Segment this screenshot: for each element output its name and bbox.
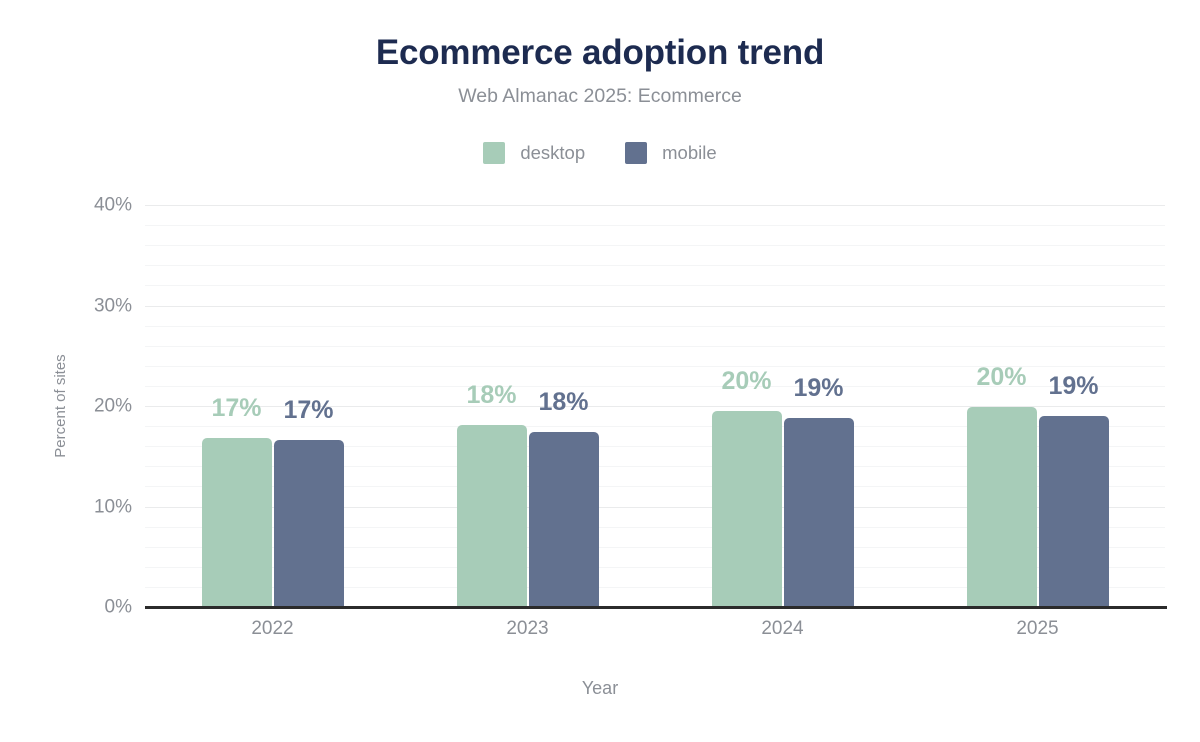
gridline-minor — [145, 225, 1165, 226]
bar-label-mobile-2024: 19% — [793, 376, 843, 401]
y-axis-tick-label: 0% — [12, 598, 132, 617]
gridline-minor — [145, 285, 1165, 286]
bar-label-desktop-2022: 17% — [211, 396, 261, 421]
bar-label-desktop-2023: 18% — [466, 383, 516, 408]
y-axis-tick-label: 10% — [12, 497, 132, 516]
gridline-major — [145, 306, 1165, 307]
bar-label-desktop-2025: 20% — [976, 365, 1026, 390]
bar-mobile-2025[interactable] — [1039, 416, 1109, 607]
bar-desktop-2024[interactable] — [712, 411, 782, 607]
gridline-minor — [145, 245, 1165, 246]
bar-desktop-2023[interactable] — [457, 425, 527, 607]
x-axis-title: Year — [0, 678, 1200, 699]
plot-wrapper: 0%10%20%30%40% Percent of sites 20222023… — [0, 0, 1200, 742]
gridline-minor — [145, 326, 1165, 327]
gridline-minor — [145, 346, 1165, 347]
x-axis-tick-label: 2023 — [506, 618, 548, 640]
y-axis-title: Percent of sites — [52, 354, 69, 457]
bar-desktop-2022[interactable] — [202, 438, 272, 607]
gridline-minor — [145, 265, 1165, 266]
x-axis-tick-label: 2024 — [761, 618, 803, 640]
bar-label-mobile-2023: 18% — [538, 390, 588, 415]
bar-label-mobile-2022: 17% — [283, 398, 333, 423]
x-axis-baseline — [145, 606, 1167, 609]
y-axis-tick-label: 20% — [12, 397, 132, 416]
bar-mobile-2023[interactable] — [529, 432, 599, 607]
x-axis-tick-label: 2025 — [1016, 618, 1058, 640]
bar-label-mobile-2025: 19% — [1048, 374, 1098, 399]
bar-mobile-2024[interactable] — [784, 418, 854, 607]
gridline-major — [145, 205, 1165, 206]
bar-mobile-2022[interactable] — [274, 440, 344, 607]
x-axis-tick-label: 2022 — [251, 618, 293, 640]
y-axis-tick-label: 40% — [12, 196, 132, 215]
y-axis-tick-label: 30% — [12, 296, 132, 315]
bar-label-desktop-2024: 20% — [721, 369, 771, 394]
bar-desktop-2025[interactable] — [967, 407, 1037, 607]
